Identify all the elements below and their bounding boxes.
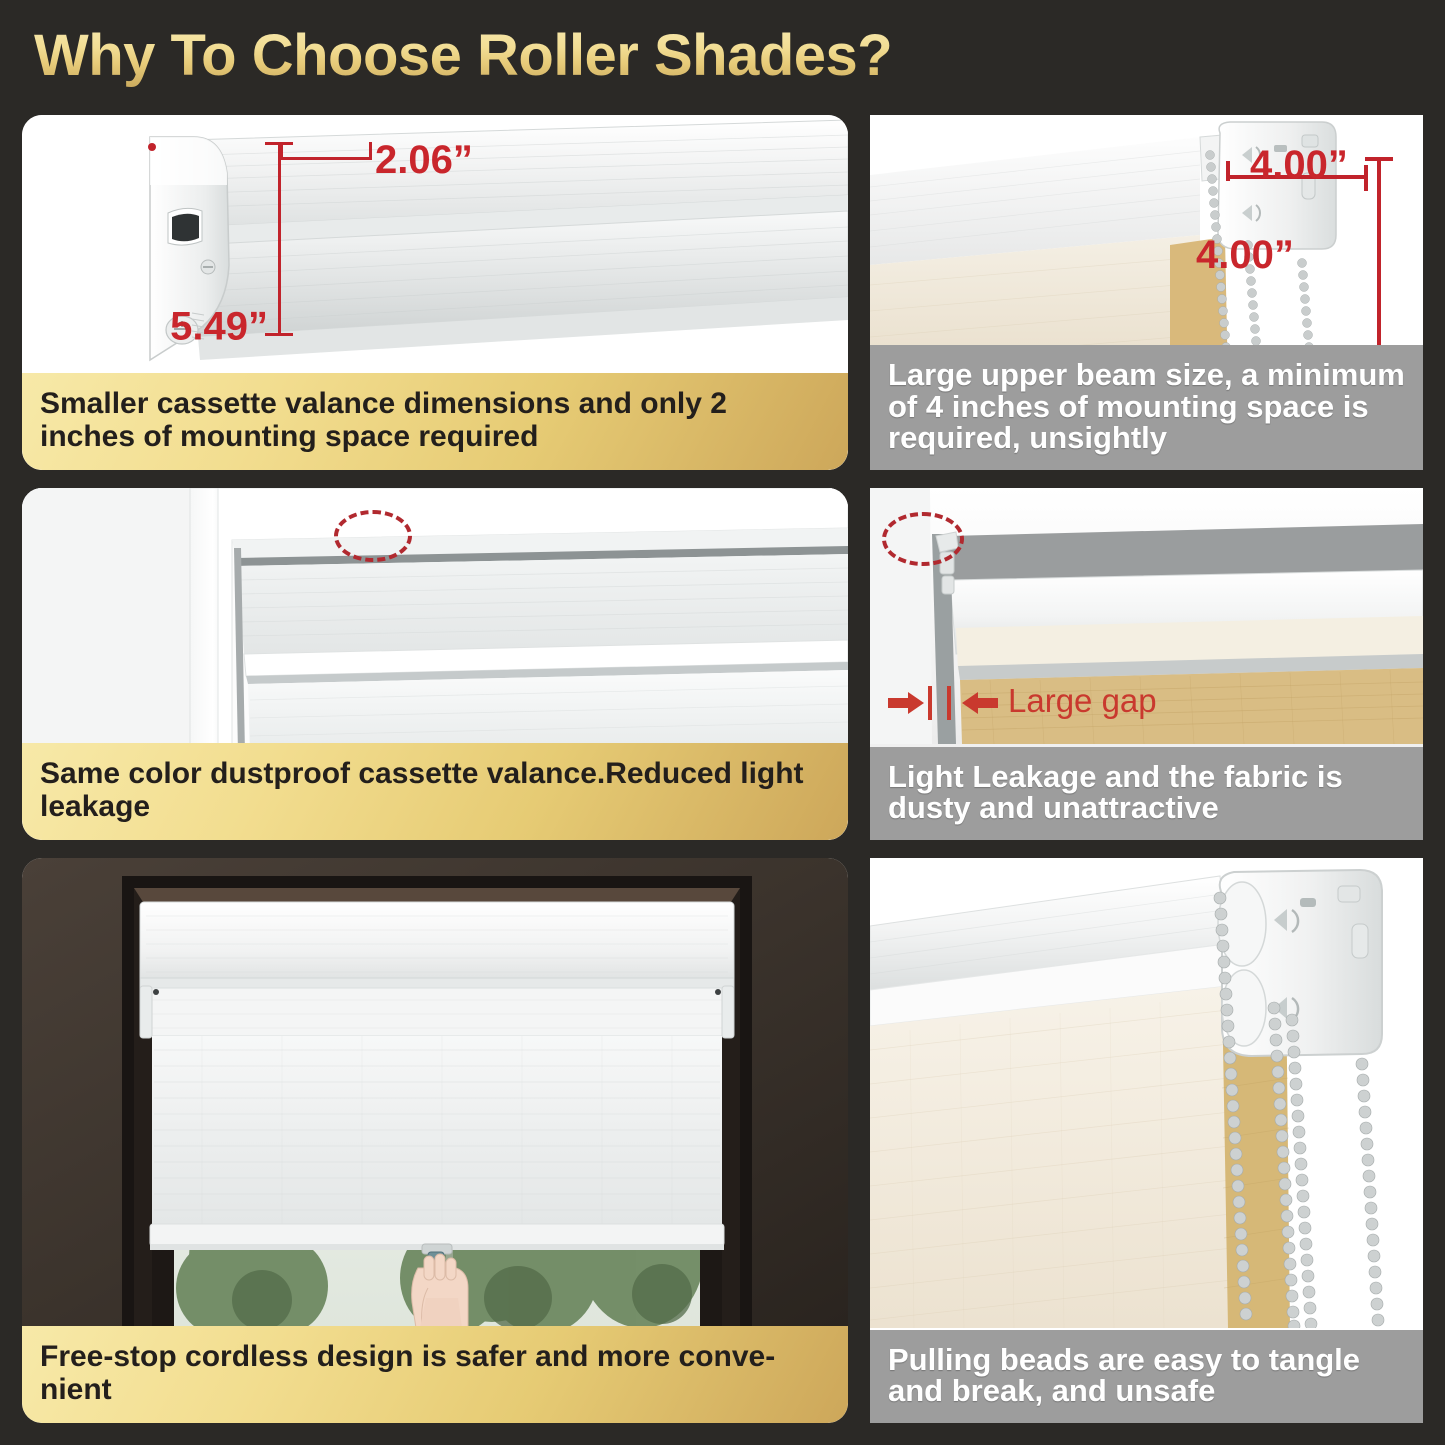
panel-3-caption: Same color dustproof cassette valance.Re… (22, 743, 848, 840)
panel-free-stop-cordless-design: Free-stop cordless design is safer and m… (22, 858, 848, 1423)
bead-chain-roller-illustration (870, 858, 1423, 1328)
beam-height-dimension-label: 4.00” (1196, 233, 1294, 278)
panel-pulling-beads-tangle: Pulling beads are easy to tangle and bre… (870, 858, 1423, 1423)
panel-1-caption: Smaller cassette valance dimensions and … (22, 373, 848, 470)
panel-large-upper-beam: 4.00” 4.00” Large upper beam size, a min… (870, 115, 1423, 470)
height-dimension-line (278, 143, 281, 335)
panel-light-leakage-dusty-fabric: Large gap Light Leakage and the fabric i… (870, 488, 1423, 840)
infographic-root: Why To Choose Roller Shades? (0, 0, 1445, 1445)
height-dimension-tick-top (265, 142, 293, 145)
height-dimension-tick-bottom (265, 333, 293, 336)
window-frame-valance-illustration (22, 488, 848, 753)
large-gap-marker-right (947, 686, 951, 720)
large-gap-marker-left (928, 686, 932, 720)
beam-height-dimension-line (1377, 157, 1381, 353)
height-dimension-label: 5.49” (170, 305, 268, 350)
panel-cassette-valance-dimensions: 2.06” 5.49” Smaller cassette valance dim… (22, 115, 848, 470)
beam-width-tick-right (1364, 165, 1368, 191)
room-window-shade-illustration (22, 858, 848, 1328)
highlight-ellipse-icon (334, 510, 412, 562)
large-gap-label: Large gap (1008, 682, 1157, 720)
beam-height-tick-top (1365, 157, 1393, 161)
width-dimension-tick-right (369, 142, 372, 160)
beam-width-dimension-label: 4.00” (1250, 143, 1348, 188)
highlight-ellipse-icon (882, 512, 964, 566)
page-title: Why To Choose Roller Shades? (34, 22, 892, 89)
panel-4-caption: Light Leakage and the fabric is dusty an… (870, 747, 1423, 840)
panel-6-caption: Pulling beads are easy to tangle and bre… (870, 1330, 1423, 1423)
width-dimension-label: 2.06” (375, 138, 473, 183)
beam-width-tick-left (1226, 161, 1230, 181)
panel-dustproof-cassette-valance: smaller gap Same color dustproof cassett… (22, 488, 848, 840)
width-dimension-line (280, 157, 372, 160)
panel-2-caption: Large upper beam size, a minimum of 4 in… (870, 345, 1423, 470)
panel-5-caption: Free-stop cordless design is safer and m… (22, 1326, 848, 1423)
